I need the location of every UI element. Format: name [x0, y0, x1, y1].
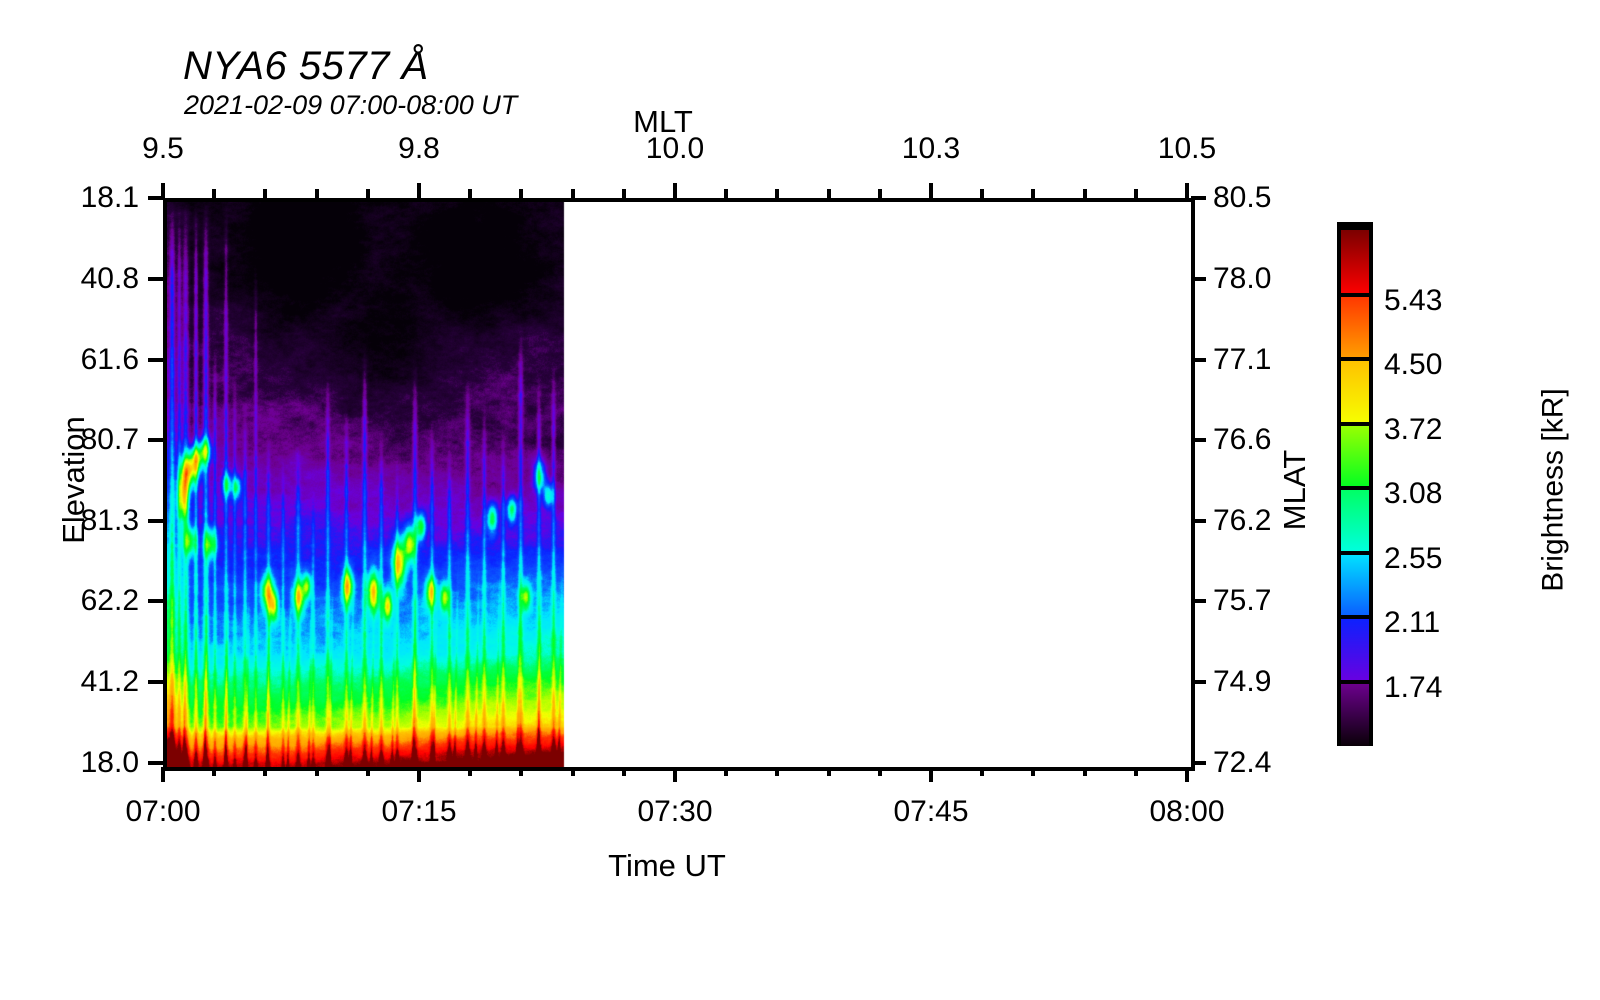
right-tick-label-0: 80.5	[1213, 181, 1271, 215]
top-minor-tick-6	[468, 189, 472, 198]
bottom-minor-tick-16	[980, 767, 984, 776]
colorbar-tick-label-3: 3.08	[1384, 477, 1442, 511]
top-minor-tick-12	[775, 189, 779, 198]
bottom-minor-tick-18	[1083, 767, 1087, 776]
bottom-minor-tick-14	[878, 767, 882, 776]
top-minor-tick-19	[1134, 189, 1138, 198]
keogram-data-image	[167, 202, 1191, 767]
colorbar-tick-label-6: 1.74	[1384, 671, 1442, 705]
left-tick-label-7: 18.0	[81, 746, 139, 780]
keogram-figure: NYA6 5577 Å 2021-02-09 07:00-08:00 UT ML…	[0, 0, 1600, 1000]
colorbar-segment-4	[1341, 488, 1369, 553]
colorbar-segment-5	[1341, 553, 1369, 618]
top-major-tick-4	[1185, 183, 1189, 198]
top-minor-tick-4	[366, 189, 370, 198]
right-tick-label-6: 74.9	[1213, 665, 1271, 699]
bottom-minor-tick-12	[775, 767, 779, 776]
bottom-minor-tick-7	[519, 767, 523, 776]
colorbar-tick-label-2: 3.72	[1384, 413, 1442, 447]
right-tick-label-4: 76.2	[1213, 504, 1271, 538]
top-minor-tick-17	[1031, 189, 1035, 198]
colorbar-segment-2	[1341, 359, 1369, 424]
left-tick-label-3: 80.7	[81, 423, 139, 457]
bottom-tick-label-4: 08:00	[1149, 795, 1224, 829]
left-tick-label-0: 18.1	[81, 181, 139, 215]
bottom-major-tick-0	[161, 767, 165, 782]
left-tick-6	[148, 680, 163, 684]
top-minor-tick-11	[724, 189, 728, 198]
left-tick-5	[148, 599, 163, 603]
right-tick-0	[1191, 196, 1206, 200]
top-tick-label-0: 9.5	[142, 132, 184, 166]
colorbar-separator-4	[1341, 486, 1369, 490]
colorbar-segment-3	[1341, 424, 1369, 489]
colorbar-segment-0	[1341, 230, 1369, 295]
colorbar-separator-2	[1341, 357, 1369, 361]
bottom-minor-tick-3	[315, 767, 319, 776]
right-tick-label-3: 76.6	[1213, 423, 1271, 457]
colorbar-tick-label-1: 4.50	[1384, 348, 1442, 382]
colorbar-segment-6	[1341, 617, 1369, 682]
colorbar	[1337, 222, 1373, 746]
colorbar-tick-label-4: 2.55	[1384, 542, 1442, 576]
bottom-tick-label-3: 07:45	[893, 795, 968, 829]
left-tick-label-1: 40.8	[81, 262, 139, 296]
top-major-tick-2	[673, 183, 677, 198]
right-tick-1	[1191, 277, 1206, 281]
bottom-minor-tick-8	[571, 767, 575, 776]
top-minor-tick-7	[519, 189, 523, 198]
right-tick-label-5: 75.7	[1213, 584, 1271, 618]
page-subtitle: 2021-02-09 07:00-08:00 UT	[184, 90, 517, 121]
top-minor-tick-8	[571, 189, 575, 198]
right-tick-7	[1191, 761, 1206, 765]
top-minor-tick-13	[827, 189, 831, 198]
bottom-minor-tick-2	[263, 767, 267, 776]
left-tick-label-5: 62.2	[81, 584, 139, 618]
bottom-major-tick-4	[1185, 767, 1189, 782]
bottom-tick-label-2: 07:30	[637, 795, 712, 829]
right-tick-label-2: 77.1	[1213, 343, 1271, 377]
left-tick-2	[148, 358, 163, 362]
right-tick-3	[1191, 438, 1206, 442]
colorbar-separator-6	[1341, 615, 1369, 619]
top-major-tick-3	[929, 183, 933, 198]
left-tick-label-6: 41.2	[81, 665, 139, 699]
bottom-tick-label-1: 07:15	[381, 795, 456, 829]
top-minor-tick-3	[315, 189, 319, 198]
bottom-minor-tick-13	[827, 767, 831, 776]
bottom-minor-tick-11	[724, 767, 728, 776]
colorbar-separator-3	[1341, 422, 1369, 426]
right-tick-5	[1191, 599, 1206, 603]
colorbar-segment-7	[1341, 682, 1369, 747]
top-minor-tick-2	[263, 189, 267, 198]
colorbar-segment-1	[1341, 295, 1369, 360]
bottom-major-tick-3	[929, 767, 933, 782]
colorbar-separator-1	[1341, 293, 1369, 297]
bottom-major-tick-2	[673, 767, 677, 782]
colorbar-label: Brightness [kR]	[1537, 388, 1571, 591]
bottom-minor-tick-9	[622, 767, 626, 776]
bottom-minor-tick-4	[366, 767, 370, 776]
top-tick-label-4: 10.5	[1158, 132, 1216, 166]
left-tick-3	[148, 438, 163, 442]
left-tick-1	[148, 277, 163, 281]
top-minor-tick-14	[878, 189, 882, 198]
top-minor-tick-16	[980, 189, 984, 198]
top-minor-tick-1	[212, 189, 216, 198]
plot-area	[163, 198, 1195, 771]
page-title: NYA6 5577 Å	[183, 44, 429, 89]
top-minor-tick-9	[622, 189, 626, 198]
bottom-tick-label-0: 07:00	[125, 795, 200, 829]
bottom-minor-tick-1	[212, 767, 216, 776]
top-minor-tick-18	[1083, 189, 1087, 198]
bottom-minor-tick-17	[1031, 767, 1035, 776]
right-tick-label-1: 78.0	[1213, 262, 1271, 296]
right-axis-label: MLAT	[1277, 450, 1313, 530]
bottom-minor-tick-6	[468, 767, 472, 776]
left-tick-7	[148, 761, 163, 765]
left-tick-4	[148, 519, 163, 523]
right-tick-6	[1191, 680, 1206, 684]
colorbar-tick-label-5: 2.11	[1384, 606, 1440, 640]
right-tick-label-7: 72.4	[1213, 746, 1271, 780]
left-tick-label-2: 61.6	[81, 343, 139, 377]
right-tick-2	[1191, 358, 1206, 362]
left-tick-label-4: 81.3	[81, 504, 139, 538]
top-tick-label-1: 9.8	[398, 132, 440, 166]
top-major-tick-1	[417, 183, 421, 198]
left-tick-0	[148, 196, 163, 200]
bottom-axis-label: Time UT	[608, 848, 726, 884]
bottom-minor-tick-19	[1134, 767, 1138, 776]
colorbar-separator-7	[1341, 680, 1369, 684]
right-tick-4	[1191, 519, 1206, 523]
top-tick-label-2: 10.0	[646, 132, 704, 166]
bottom-major-tick-1	[417, 767, 421, 782]
colorbar-tick-label-0: 5.43	[1384, 284, 1442, 318]
colorbar-separator-5	[1341, 551, 1369, 555]
top-tick-label-3: 10.3	[902, 132, 960, 166]
